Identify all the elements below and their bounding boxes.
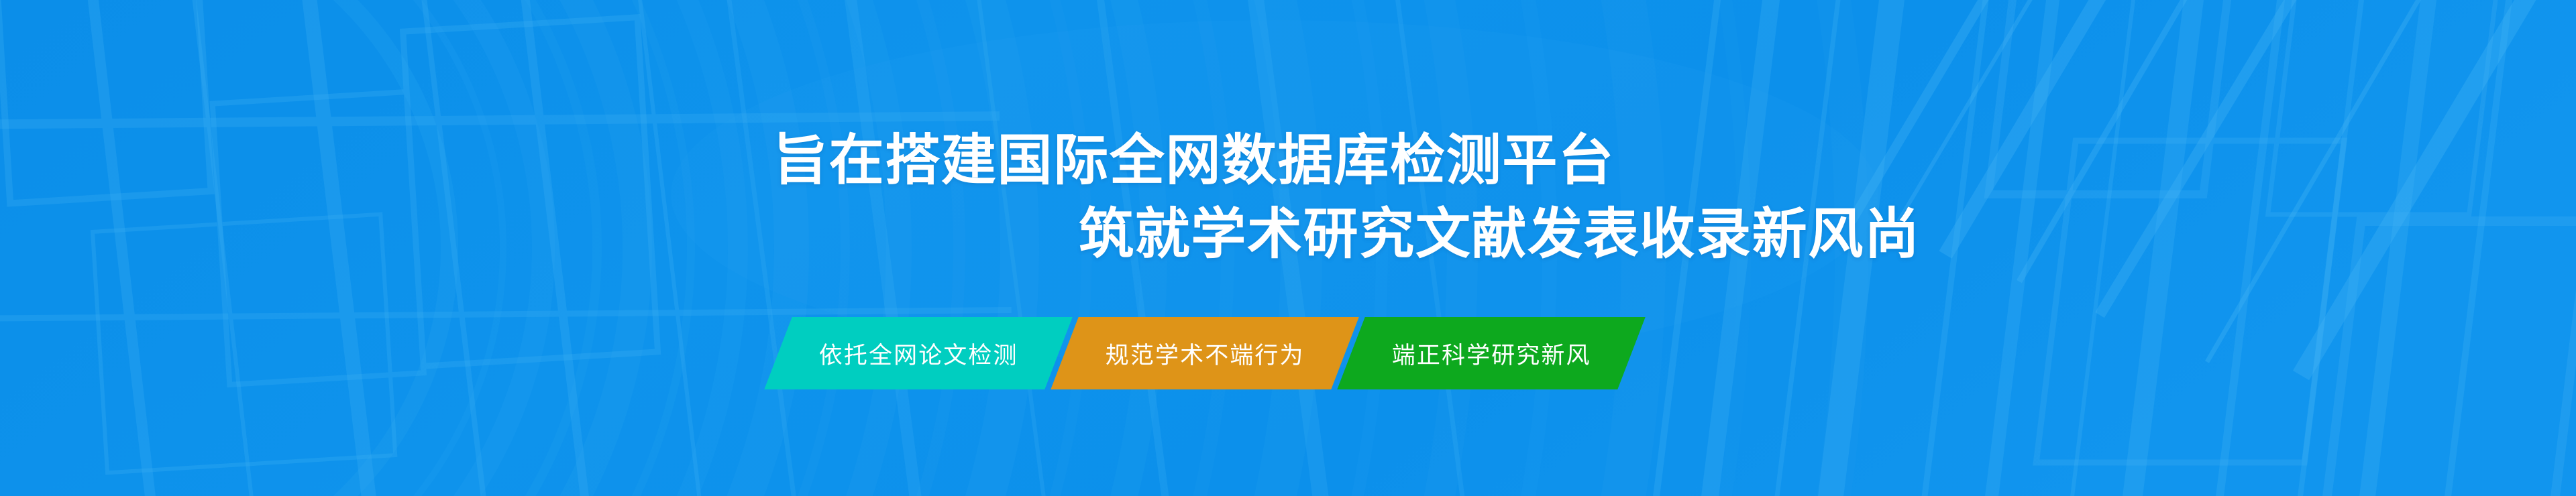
feature-tag-label: 依托全网论文检测 xyxy=(819,336,1018,371)
feature-tag-strip: 依托全网论文检测 规范学术不端行为 端正科学研究新风 xyxy=(778,317,1631,389)
feature-tag-integrity[interactable]: 端正科学研究新风 xyxy=(1337,317,1645,389)
promo-banner: 旨在搭建国际全网数据库检测平台 筑就学术研究文献发表收录新风尚 依托全网论文检测… xyxy=(0,0,2576,496)
feature-tag-detection[interactable]: 依托全网论文检测 xyxy=(764,317,1072,389)
feature-tag-misconduct[interactable]: 规范学术不端行为 xyxy=(1051,317,1358,389)
background-artwork xyxy=(0,0,2576,496)
feature-tag-label: 规范学术不端行为 xyxy=(1106,336,1305,371)
feature-tag-label: 端正科学研究新风 xyxy=(1392,336,1591,371)
light-bloom xyxy=(671,20,1878,369)
